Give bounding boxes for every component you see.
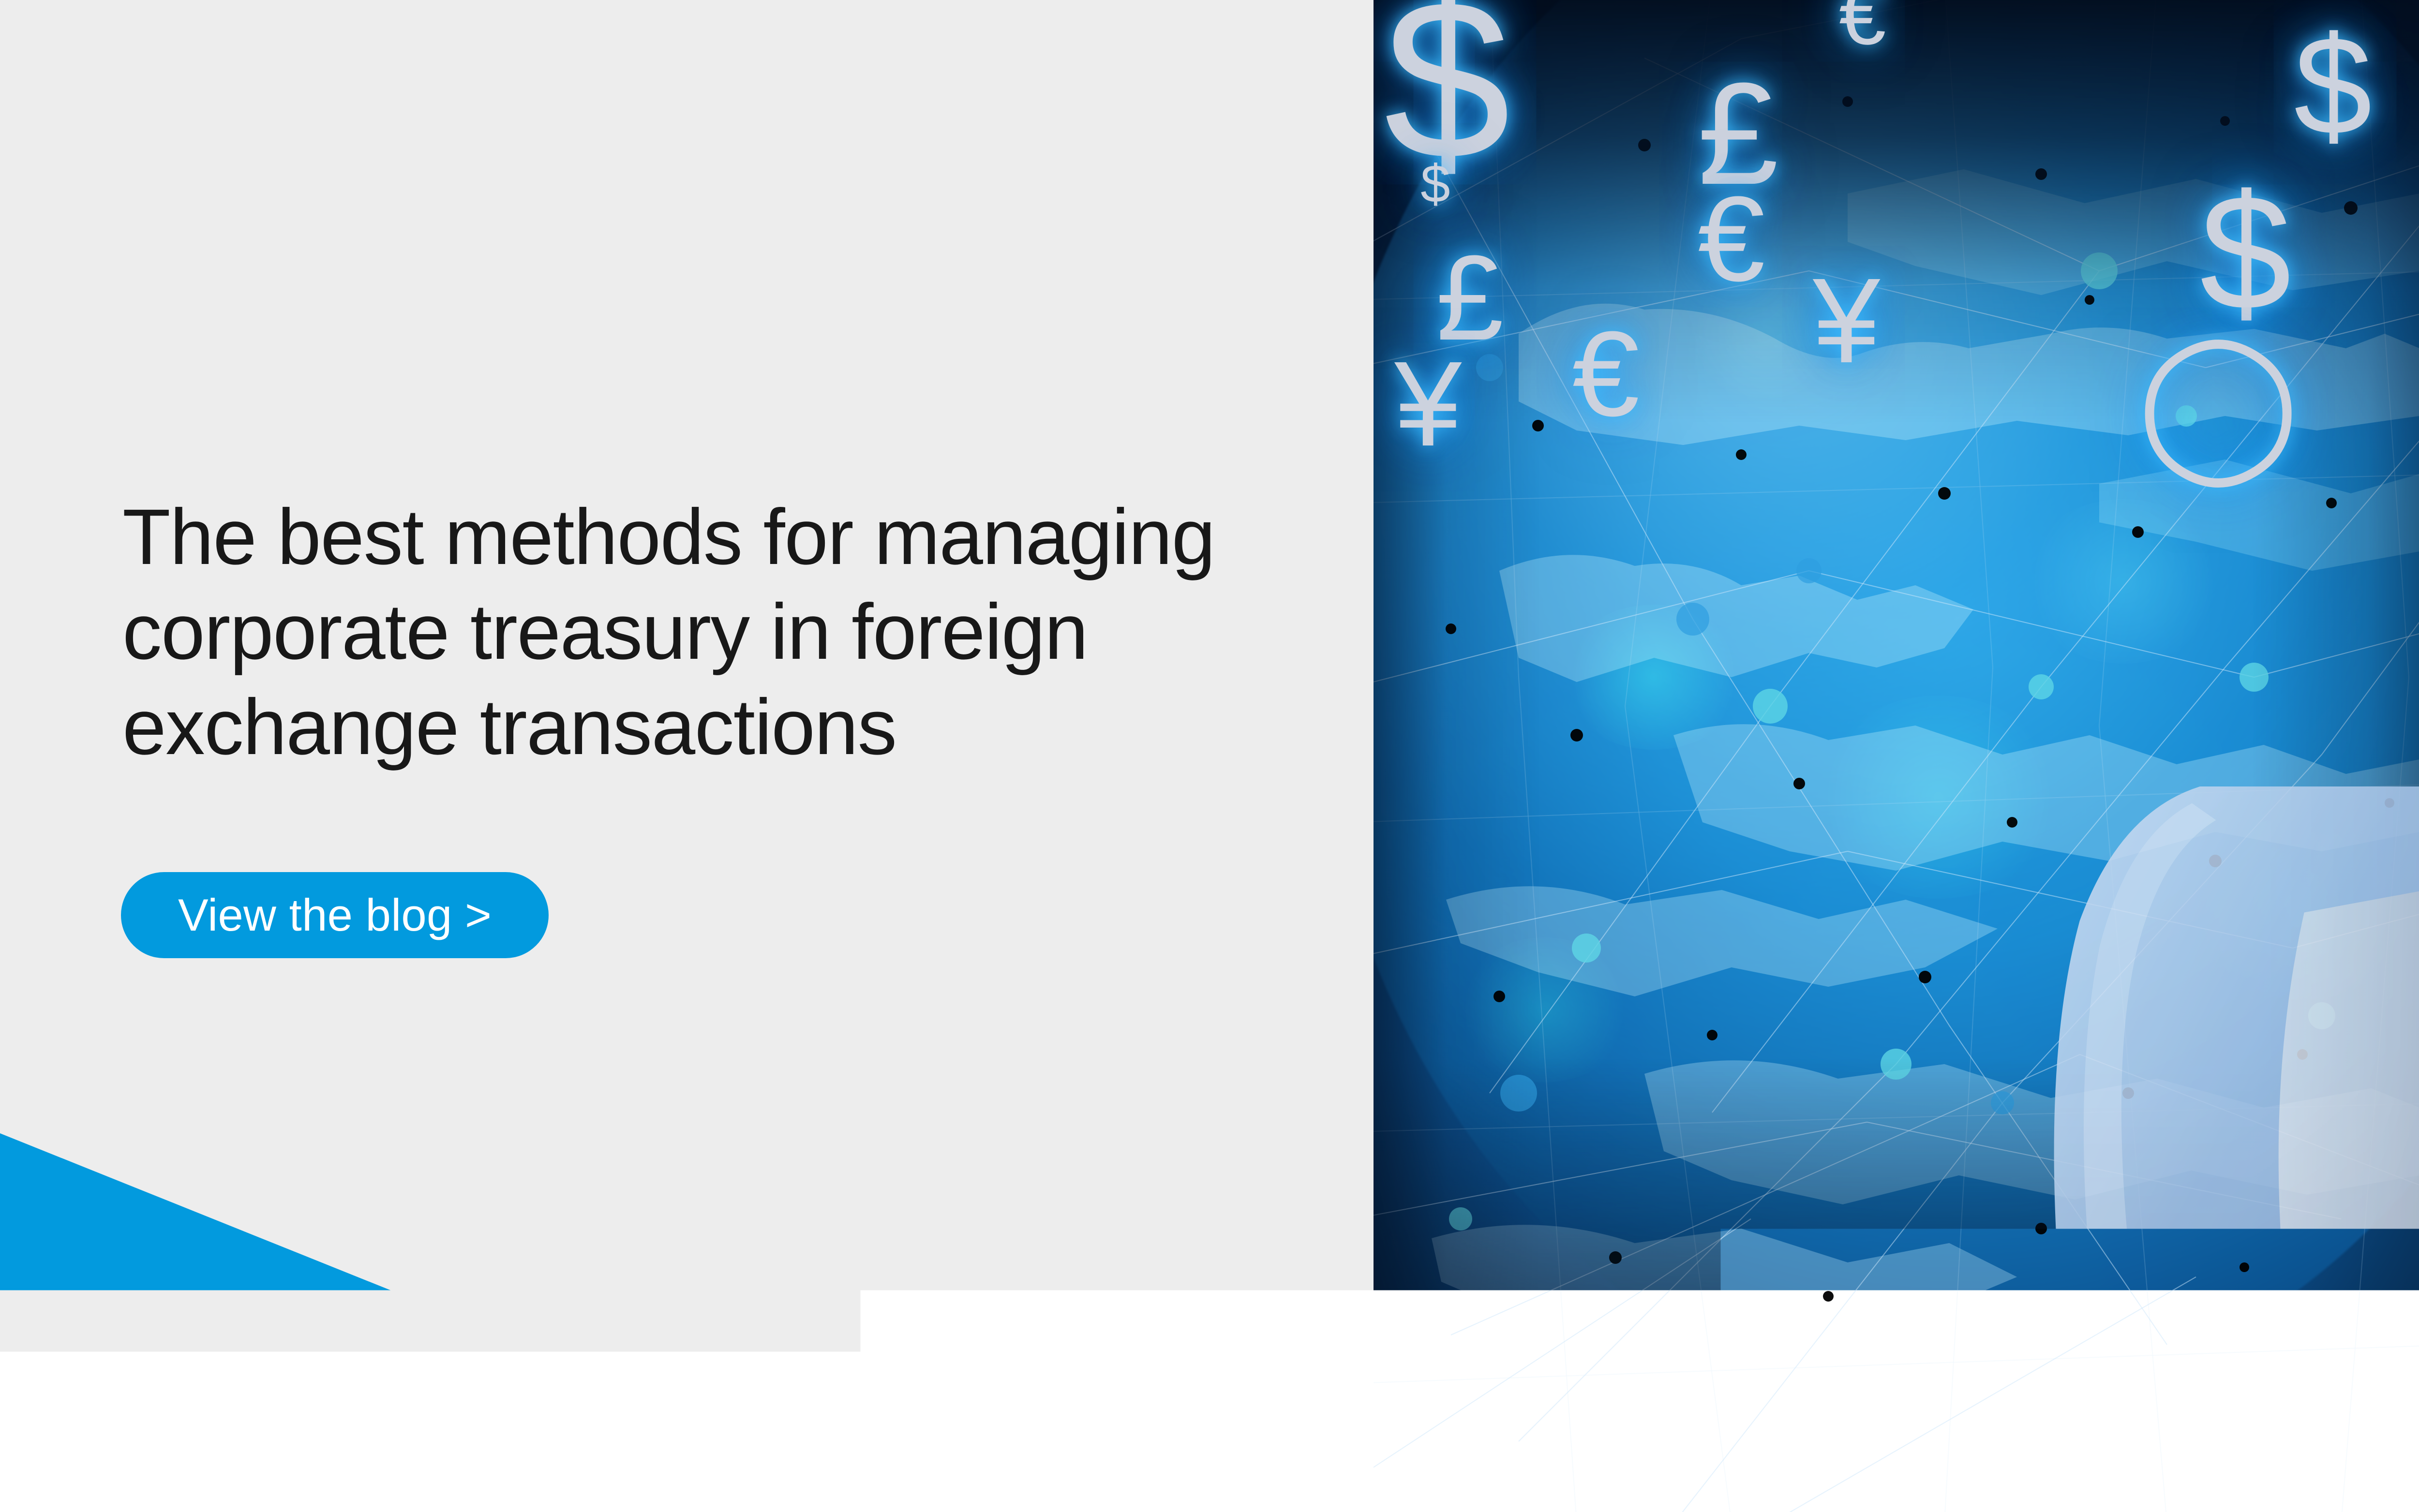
view-the-blog-button[interactable]: View the blog > <box>121 872 549 958</box>
currency-ring-sign-icon: ◯ <box>2137 336 2300 466</box>
euro-sign-icon: € <box>1572 319 1640 428</box>
euro-sign-icon: € <box>1698 184 1765 293</box>
yen-sign-icon: ¥ <box>1813 266 1880 375</box>
currency-symbols-layer: $€$£$€$£¥€¥◯ <box>1374 0 2419 1512</box>
page-title: The best methods for managing corporate … <box>122 489 1332 774</box>
left-content-panel: The best methods for managing corporate … <box>0 0 1374 1512</box>
hero-globe-image: $€$£$€$£¥€¥◯ <box>1374 0 2419 1512</box>
banner-canvas: $€$£$€$£¥€¥◯ The best methods for managi… <box>0 0 2419 1512</box>
dollar-sign-icon: $ <box>2294 23 2372 149</box>
dollar-sign-icon: $ <box>2200 178 2291 326</box>
dollar-sign-icon: $ <box>1420 160 1450 208</box>
euro-sign-icon: € <box>1839 0 1886 54</box>
yen-sign-icon: ¥ <box>1394 349 1462 458</box>
